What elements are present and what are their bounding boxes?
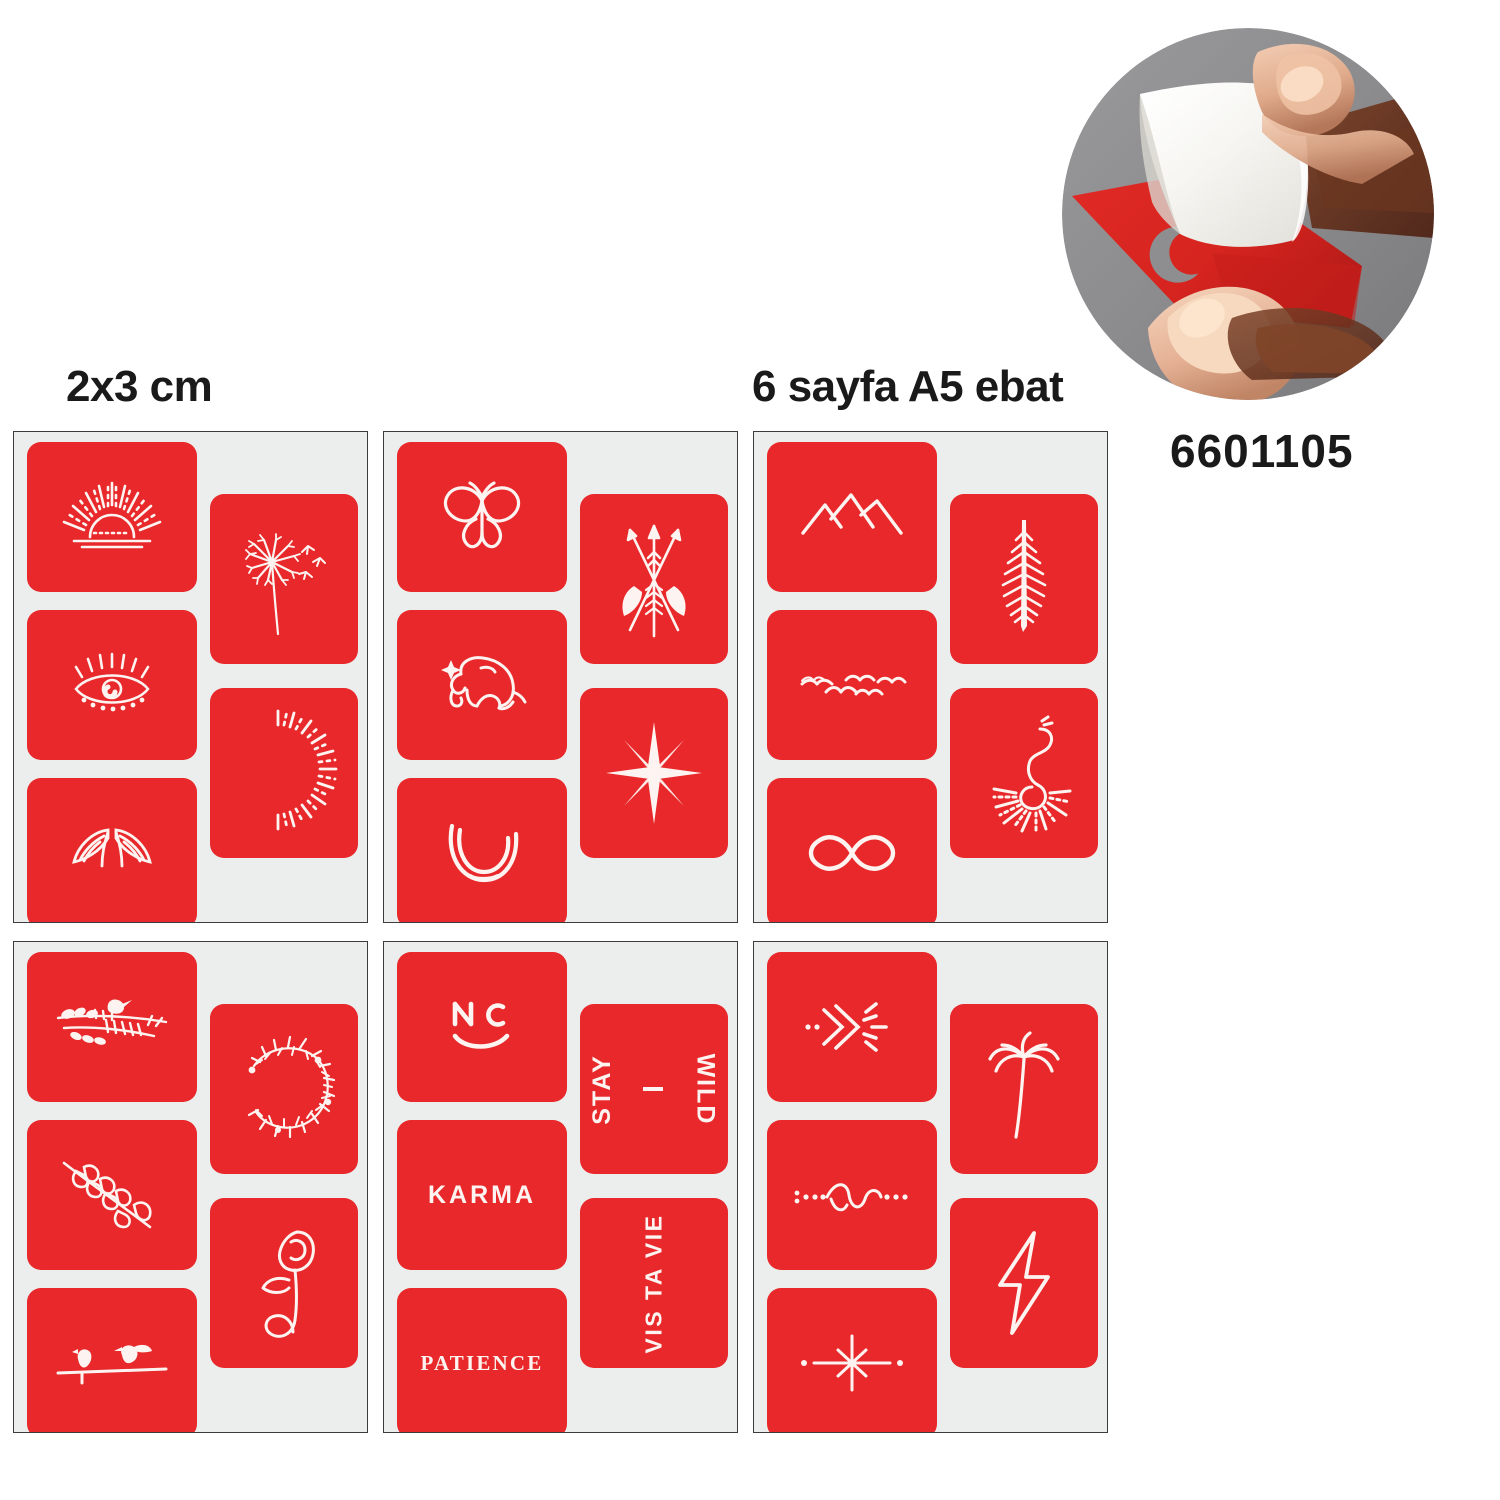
sticker-starburst-cross[interactable]: [767, 1288, 937, 1433]
stay-word: STAY: [590, 1054, 615, 1125]
divider-dash: [643, 1087, 663, 1091]
sticker-no-smiley[interactable]: [397, 952, 567, 1102]
branch-with-bird-icon: [50, 992, 174, 1062]
sticker-crescent-moon-sunburst[interactable]: [210, 688, 358, 858]
sticker-snake-squiggle[interactable]: [767, 1120, 937, 1270]
sticker-mountains[interactable]: [767, 442, 937, 592]
sticker-branch-with-bird[interactable]: [27, 952, 197, 1102]
crescent-smile-icon: [436, 814, 528, 892]
sticker-patience[interactable]: PATIENCE: [397, 1288, 567, 1433]
sticker-karma[interactable]: KARMA: [397, 1120, 567, 1270]
butterfly-icon: [432, 477, 532, 557]
sticker-palm-tree[interactable]: [950, 1004, 1098, 1174]
vis-ta-vie-text: VIS TA VIE: [643, 1213, 666, 1353]
peeling-sticker-photo: [1062, 28, 1434, 400]
wild-word: WILD: [693, 1053, 718, 1125]
mountains-icon: [797, 489, 907, 545]
stay-wild-layout: STAY WILD: [580, 1077, 728, 1102]
sticker-rose[interactable]: [210, 1198, 358, 1368]
leafy-branch-icon: [54, 1153, 170, 1237]
sticker-flying-birds[interactable]: [767, 610, 937, 760]
sticker-floral-wreath[interactable]: [210, 1004, 358, 1174]
fern-leaf-icon: [986, 514, 1062, 644]
sticker-flamingo-sunburst[interactable]: [950, 688, 1098, 858]
product-code-label: 6601105: [1170, 424, 1354, 478]
infinity-icon: [802, 826, 902, 880]
crescent-moon-sunburst-icon: [230, 709, 338, 837]
sticker-sheet-1: [13, 431, 368, 923]
sticker-sheet-3: [753, 431, 1108, 923]
size-label: 2x3 cm: [66, 362, 212, 412]
sticker-sheet-grid: KARMA PATIENCE STAY WILD VIS TA VIE: [13, 431, 1109, 1433]
sticker-evil-eye[interactable]: [27, 610, 197, 760]
sticker-birds-on-wire[interactable]: [27, 1288, 197, 1433]
sticker-chevron-burst[interactable]: [767, 952, 937, 1102]
patience-text: PATIENCE: [421, 1353, 544, 1374]
dandelion-icon: [232, 514, 336, 644]
sticker-sheet-5: KARMA PATIENCE STAY WILD VIS TA VIE: [383, 941, 738, 1433]
sticker-stay-wild[interactable]: STAY WILD: [580, 1004, 728, 1174]
page-count-label: 6 sayfa A5 ebat: [752, 362, 1063, 412]
sunrise-sunburst-icon: [56, 475, 168, 559]
butterfly-wings-icon: [62, 818, 162, 888]
sticker-leafy-branch[interactable]: [27, 1120, 197, 1270]
floral-wreath-icon: [228, 1030, 340, 1148]
sticker-infinity[interactable]: [767, 778, 937, 923]
elephant-icon: [429, 648, 535, 722]
no-smiley-icon: [445, 998, 519, 1056]
compass-star-icon: [602, 718, 706, 828]
lightning-bolt-icon: [986, 1227, 1062, 1339]
snake-squiggle-icon: [791, 1171, 913, 1219]
sticker-elephant[interactable]: [397, 610, 567, 760]
sticker-vis-ta-vie[interactable]: VIS TA VIE: [580, 1198, 728, 1368]
sticker-sheet-4: [13, 941, 368, 1433]
sticker-sheet-2: [383, 431, 738, 923]
birds-on-wire-icon: [52, 1341, 172, 1385]
sticker-compass-star[interactable]: [580, 688, 728, 858]
sticker-butterfly-wings[interactable]: [27, 778, 197, 923]
rose-icon: [239, 1220, 329, 1346]
sticker-sunrise-sunburst[interactable]: [27, 442, 197, 592]
chevron-burst-icon: [796, 996, 908, 1058]
flying-birds-icon: [794, 662, 910, 708]
evil-eye-icon: [58, 647, 166, 723]
sticker-crescent-smile[interactable]: [397, 778, 567, 923]
sticker-fern-leaf[interactable]: [950, 494, 1098, 664]
crossed-arrows-icon: [604, 512, 704, 646]
karma-text: KARMA: [428, 1183, 536, 1208]
sticker-sheet-6: [753, 941, 1108, 1433]
sticker-butterfly[interactable]: [397, 442, 567, 592]
sticker-dandelion[interactable]: [210, 494, 358, 664]
sticker-lightning-bolt[interactable]: [950, 1198, 1098, 1368]
palm-tree-icon: [982, 1031, 1066, 1147]
starburst-cross-icon: [794, 1330, 910, 1396]
sticker-crossed-arrows[interactable]: [580, 494, 728, 664]
flamingo-sunburst-icon: [976, 709, 1072, 837]
